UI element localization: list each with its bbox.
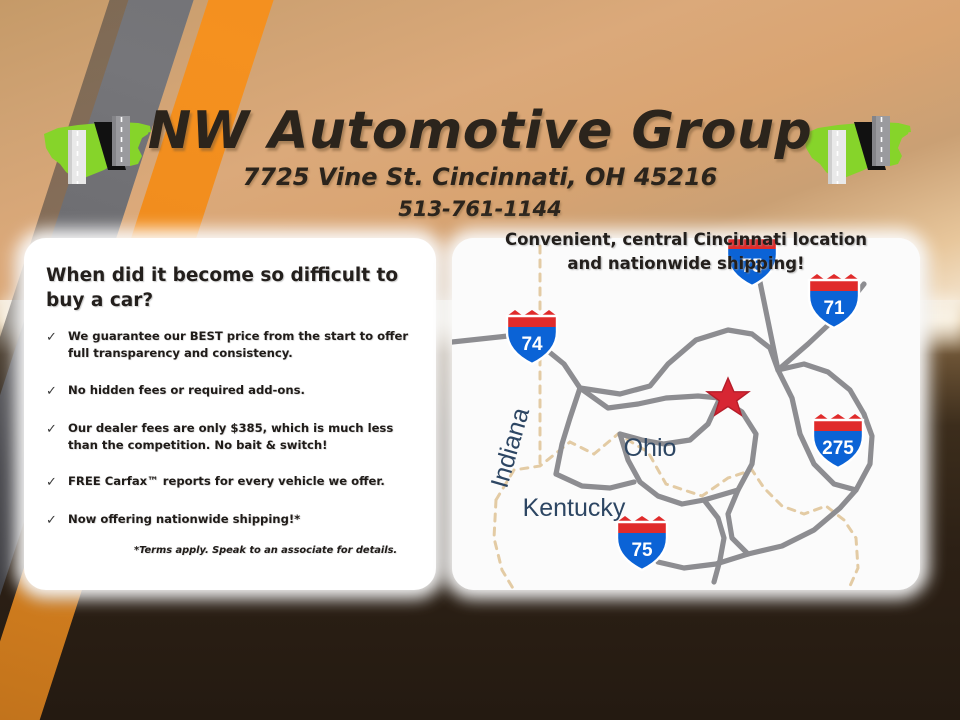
company-phone: 513-761-1144 bbox=[0, 197, 960, 221]
company-address: 7725 Vine St. Cincinnati, OH 45216 bbox=[0, 163, 960, 191]
list-item: ✓ We guarantee our BEST price from the s… bbox=[46, 328, 412, 363]
list-item: ✓ FREE Carfax™ reports for every vehicle… bbox=[46, 473, 412, 492]
svg-text:74: 74 bbox=[521, 334, 543, 355]
company-title: NW Automotive Group bbox=[0, 104, 960, 159]
list-item-label: No hidden fees or required add-ons. bbox=[68, 382, 305, 401]
check-icon: ✓ bbox=[46, 473, 68, 492]
svg-text:71: 71 bbox=[823, 298, 845, 319]
list-item-label: Now offering nationwide shipping!* bbox=[68, 511, 300, 530]
regional-highway-map: Indiana Ohio Kentucky 74 75 71 bbox=[452, 238, 920, 590]
svg-text:75: 75 bbox=[631, 540, 653, 561]
benefits-list: ✓ We guarantee our BEST price from the s… bbox=[46, 328, 412, 530]
check-icon: ✓ bbox=[46, 511, 68, 530]
state-label-kentucky: Kentucky bbox=[523, 494, 626, 522]
list-item-label: Our dealer fees are only $385, which is … bbox=[68, 420, 412, 455]
slide-canvas: NW Automotive Group 7725 Vine St. Cincin… bbox=[0, 0, 960, 720]
svg-text:275: 275 bbox=[822, 438, 854, 459]
list-item-label: FREE Carfax™ reports for every vehicle w… bbox=[68, 473, 385, 492]
check-icon: ✓ bbox=[46, 328, 68, 363]
brand-header: NW Automotive Group 7725 Vine St. Cincin… bbox=[0, 104, 960, 221]
value-proposition-card: When did it become so difficult to buy a… bbox=[24, 238, 436, 590]
state-label-ohio: Ohio bbox=[624, 434, 677, 462]
list-item: ✓ Now offering nationwide shipping!* bbox=[46, 511, 412, 530]
list-item-label: We guarantee our BEST price from the sta… bbox=[68, 328, 412, 363]
check-icon: ✓ bbox=[46, 420, 68, 455]
terms-disclaimer: *Terms apply. Speak to an associate for … bbox=[134, 545, 412, 556]
svg-text:75: 75 bbox=[741, 256, 763, 277]
list-item: ✓ No hidden fees or required add-ons. bbox=[46, 382, 412, 401]
left-card-heading: When did it become so difficult to buy a… bbox=[46, 264, 412, 314]
check-icon: ✓ bbox=[46, 382, 68, 401]
list-item: ✓ Our dealer fees are only $385, which i… bbox=[46, 420, 412, 455]
